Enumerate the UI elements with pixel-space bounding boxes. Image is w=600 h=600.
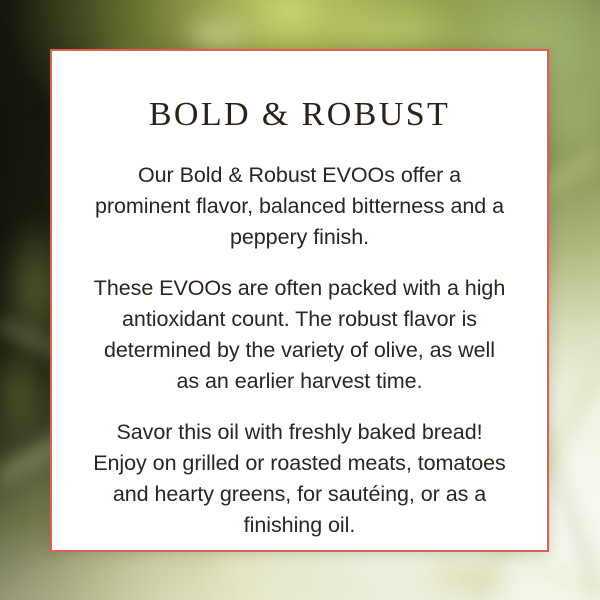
content-card: BOLD & ROBUST Our Bold & Robust EVOOs of… [50,49,549,552]
promo-panel: BOLD & ROBUST Our Bold & Robust EVOOs of… [0,0,600,600]
page-title: BOLD & ROBUST [149,51,450,134]
description-paragraph-3: Savor this oil with freshly baked bread!… [91,417,509,541]
description-paragraph-1: Our Bold & Robust EVOOs offer a prominen… [91,160,509,253]
card-body: Our Bold & Robust EVOOs offer a prominen… [82,134,517,540]
description-paragraph-2: These EVOOs are often packed with a high… [91,273,509,397]
